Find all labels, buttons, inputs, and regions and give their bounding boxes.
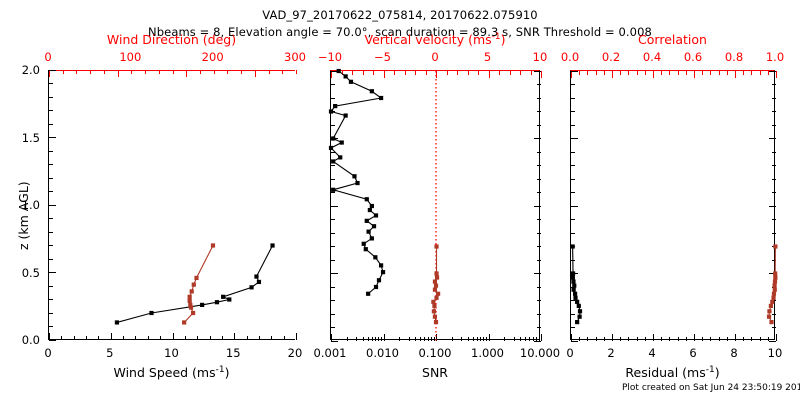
data-point: [434, 320, 438, 324]
data-point: [434, 284, 438, 288]
x-tick-label: 0: [44, 346, 51, 360]
data-point: [352, 174, 356, 178]
data-point: [200, 303, 204, 307]
data-point: [572, 288, 576, 292]
x-tick-label-top: 10: [533, 50, 548, 64]
top-axis-title: Wind Direction (deg): [107, 32, 236, 47]
series-snr: [329, 69, 385, 296]
data-point: [191, 311, 195, 315]
data-point: [190, 289, 194, 293]
data-point: [364, 247, 368, 251]
data-point: [433, 315, 437, 319]
x-axis-title: Wind Speed (ms-1): [114, 365, 230, 380]
x-tick-top: [296, 70, 297, 74]
data-point: [767, 309, 771, 313]
data-point: [572, 284, 576, 288]
data-point: [215, 300, 219, 304]
x-tick-label-top: 200: [202, 50, 224, 64]
y-tick-label: 2.0: [22, 63, 40, 77]
data-point: [370, 89, 374, 93]
data-point: [333, 104, 337, 108]
data-point: [432, 304, 436, 308]
data-point: [772, 292, 776, 296]
y-tick-label: 1.5: [22, 131, 40, 145]
data-point: [254, 274, 258, 278]
x-tick-label-top: 300: [284, 50, 306, 64]
x-tick-label: 15: [226, 346, 241, 360]
data-point: [575, 300, 579, 304]
data-point: [188, 303, 192, 307]
x-tick-label: 10: [768, 346, 783, 360]
data-point: [571, 244, 575, 248]
x-tick-label-top: 0.2: [602, 50, 620, 64]
x-axis-title: SNR: [422, 365, 448, 380]
data-point: [365, 197, 369, 201]
data-point: [338, 155, 342, 159]
data-point: [366, 230, 370, 234]
x-tick-label-top: 0.0: [561, 50, 579, 64]
data-point: [355, 181, 359, 185]
data-point: [249, 285, 253, 289]
x-tick-label-top: 0: [431, 50, 438, 64]
data-point: [769, 304, 773, 308]
x-tick-label-top: 0.8: [725, 50, 743, 64]
data-point: [349, 80, 353, 84]
data-point: [115, 320, 119, 324]
data-point: [257, 280, 261, 284]
data-point: [577, 304, 581, 308]
x-tick-label-top: 0: [44, 50, 51, 64]
data-point: [337, 69, 341, 73]
x-tick-label-top: 0.6: [684, 50, 702, 64]
panel-wind: [48, 70, 295, 340]
data-point: [770, 300, 774, 304]
x-tick-label: 1.000: [471, 346, 504, 360]
data-point: [433, 280, 437, 284]
data-point: [578, 309, 582, 313]
data-point: [366, 292, 370, 296]
data-point: [374, 285, 378, 289]
x-tick-label: 0.100: [419, 346, 452, 360]
data-point: [188, 299, 192, 303]
panel-residual: [570, 70, 775, 340]
plot-data-layer: [331, 71, 541, 341]
data-point: [372, 224, 376, 228]
data-point: [432, 309, 436, 313]
y-tick-label: 0.5: [22, 266, 40, 280]
top-axis-title: Correlation: [638, 32, 707, 47]
data-point: [331, 136, 335, 140]
data-point: [381, 270, 385, 274]
plot-credit: Plot created on Sat Jun 24 23:50:19 2017: [622, 383, 800, 393]
x-tick-label: 8: [730, 346, 737, 360]
data-point: [194, 276, 198, 280]
data-point: [182, 320, 186, 324]
data-point: [373, 255, 377, 259]
data-point: [379, 96, 383, 100]
data-point: [221, 295, 225, 299]
data-point: [329, 146, 333, 150]
data-point: [365, 219, 369, 223]
x-tick-top: [541, 71, 542, 78]
data-point: [331, 159, 335, 163]
data-point: [344, 113, 348, 117]
series-correlation: [767, 244, 778, 324]
data-point: [578, 315, 582, 319]
plot-data-layer: [49, 70, 296, 340]
x-tick-label-top: −5: [374, 50, 391, 64]
data-point: [188, 295, 192, 299]
x-tick-label-top: 0.4: [643, 50, 661, 64]
data-point: [773, 244, 777, 248]
data-point: [270, 243, 274, 247]
data-point: [433, 288, 437, 292]
top-axis-title: Vertical velocity (ms-1): [364, 32, 505, 47]
x-tick-label: 4: [648, 346, 655, 360]
x-tick-label: 0.010: [366, 346, 399, 360]
data-point: [434, 296, 438, 300]
x-tick-label-top: −10: [318, 50, 342, 64]
data-point: [340, 140, 344, 144]
data-point: [149, 311, 153, 315]
series-line: [184, 246, 213, 323]
data-point: [374, 213, 378, 217]
plot-title-line-1: VAD_97_20170622_075814, 20170622.075910: [0, 8, 800, 22]
x-tick: [776, 334, 777, 341]
x-tick-label-top: 5: [484, 50, 491, 64]
x-tick: [541, 334, 542, 341]
x-tick-label-top: 1.0: [766, 50, 784, 64]
data-point: [575, 320, 579, 324]
panel-snr: [330, 70, 540, 340]
x-tick-label-top: 100: [119, 50, 141, 64]
x-tick-label: 6: [689, 346, 696, 360]
data-point: [331, 188, 335, 192]
x-tick: [296, 333, 297, 340]
plot-data-layer: [571, 71, 776, 341]
data-point: [436, 292, 440, 296]
series-wind-direction: [182, 243, 215, 324]
x-tick-label: 10.000: [520, 346, 560, 360]
x-tick-label: 0: [566, 346, 573, 360]
data-point: [329, 109, 333, 113]
data-point: [377, 278, 381, 282]
x-tick-label: 10: [164, 346, 179, 360]
data-point: [571, 271, 575, 275]
x-axis-title: Residual (ms-1): [625, 365, 719, 380]
data-point: [571, 280, 575, 284]
data-point: [434, 271, 438, 275]
x-tick-label: 0.001: [314, 346, 347, 360]
y-axis-title: z (km AGL): [16, 181, 31, 250]
y-tick-label: 0.0: [22, 333, 40, 347]
y-tick-label: 1.0: [22, 198, 40, 212]
data-point: [571, 275, 575, 279]
data-point: [773, 288, 777, 292]
data-point: [344, 74, 348, 78]
data-point: [227, 297, 231, 301]
x-tick-label: 2: [607, 346, 614, 360]
x-tick-label: 5: [106, 346, 113, 360]
data-point: [773, 280, 777, 284]
data-point: [573, 292, 577, 296]
data-point: [370, 204, 374, 208]
data-point: [767, 315, 771, 319]
data-point: [368, 208, 372, 212]
data-point: [772, 284, 776, 288]
data-point: [431, 300, 435, 304]
data-point: [379, 263, 383, 267]
data-point: [769, 320, 773, 324]
series-residual: [571, 244, 583, 324]
data-point: [362, 242, 366, 246]
data-point: [370, 236, 374, 240]
data-point: [211, 243, 215, 247]
data-point: [435, 275, 439, 279]
data-point: [773, 271, 777, 275]
data-point: [773, 275, 777, 279]
data-point: [434, 244, 438, 248]
data-point: [771, 296, 775, 300]
x-tick-top: [776, 71, 777, 78]
data-point: [573, 296, 577, 300]
data-point: [192, 283, 196, 287]
x-tick-label: 20: [288, 346, 303, 360]
